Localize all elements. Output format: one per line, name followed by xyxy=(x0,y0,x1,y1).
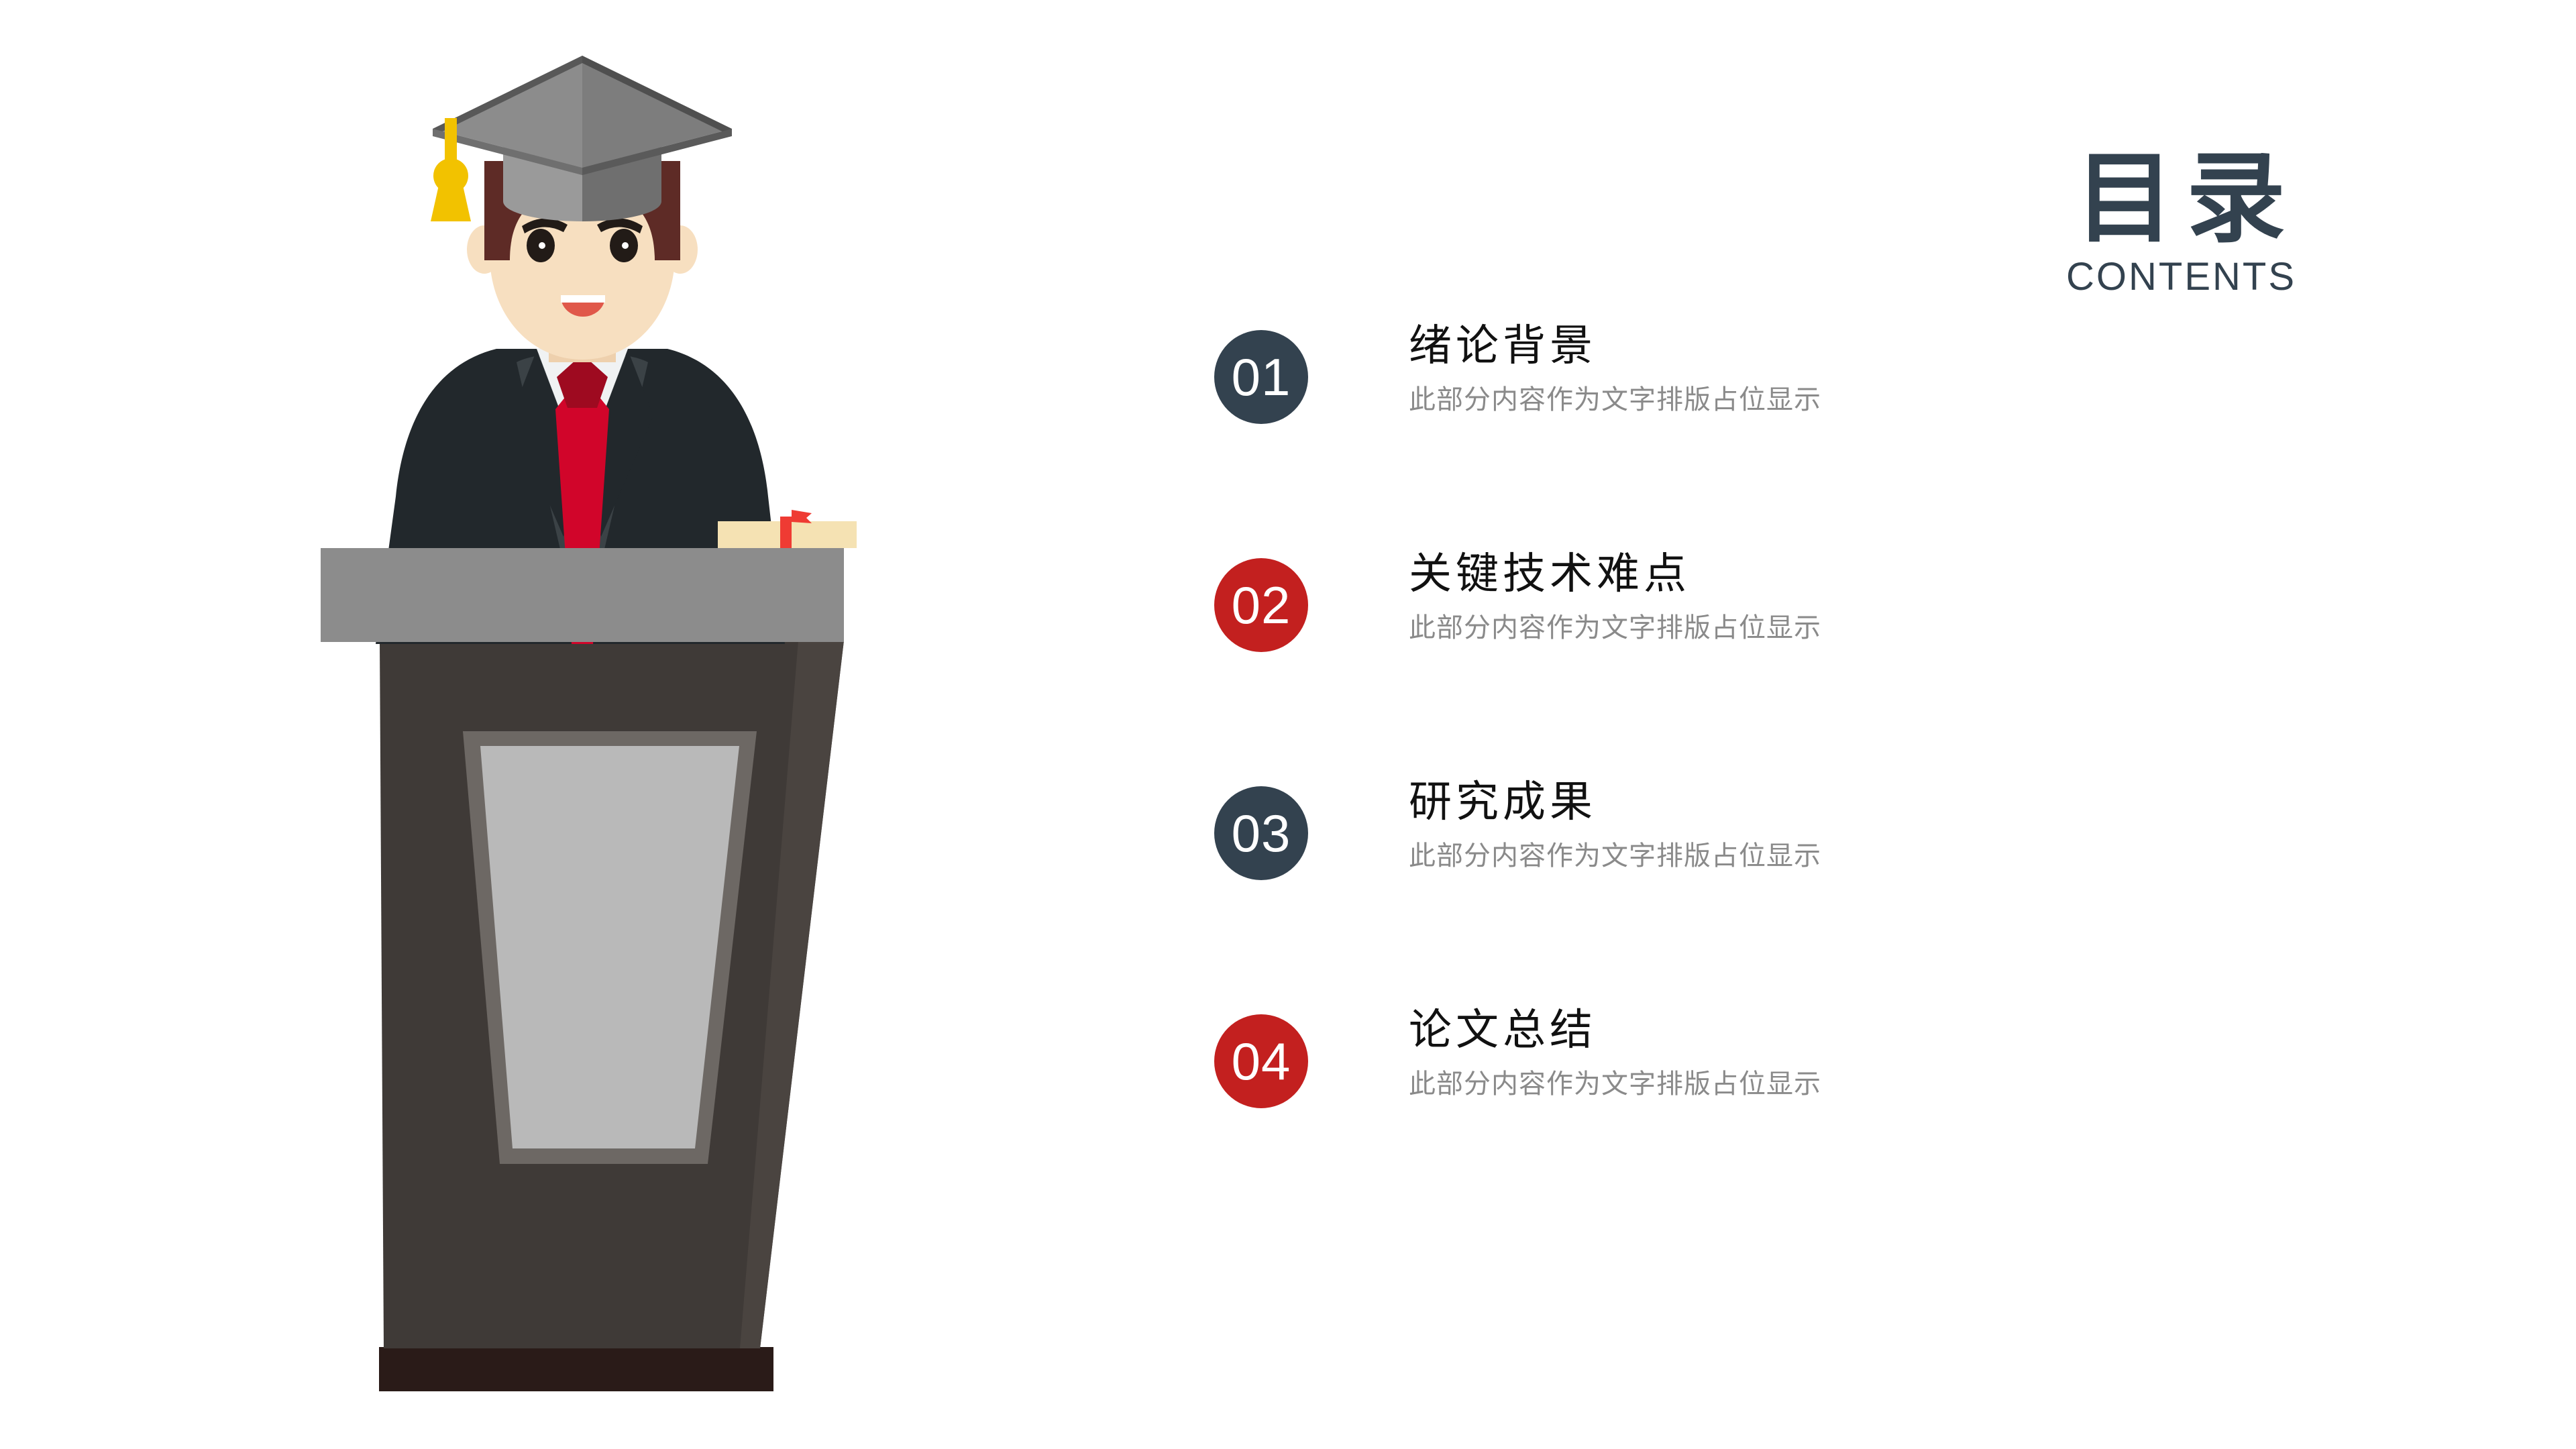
eye-left-highlight xyxy=(539,242,545,249)
agenda-item-description: 此部分内容作为文字排版占位显示 xyxy=(1409,614,2012,641)
podium-base xyxy=(379,1347,773,1391)
agenda-item-04[interactable]: 04 论文总结 此部分内容作为文字排版占位显示 xyxy=(1214,1014,2086,1128)
agenda-item-title: 关键技术难点 xyxy=(1409,553,2012,596)
agenda-text-block: 关键技术难点 此部分内容作为文字排版占位显示 xyxy=(1409,553,2012,641)
agenda-item-03[interactable]: 03 研究成果 此部分内容作为文字排版占位显示 xyxy=(1214,786,2086,900)
tassel-skirt xyxy=(431,182,471,221)
agenda-item-02[interactable]: 02 关键技术难点 此部分内容作为文字排版占位显示 xyxy=(1214,558,2086,672)
agenda-item-title: 研究成果 xyxy=(1409,781,2012,824)
agenda-text-block: 研究成果 此部分内容作为文字排版占位显示 xyxy=(1409,781,2012,869)
podium-panel xyxy=(480,746,739,1148)
agenda-number-badge: 03 xyxy=(1214,786,1308,880)
graduate-speaker-illustration xyxy=(0,0,973,1449)
graduation-cap xyxy=(431,56,732,221)
slide-canvas: 目录 CONTENTS 01 绪论背景 此部分内容作为文字排版占位显示 02 关… xyxy=(0,0,2576,1449)
agenda-item-description: 此部分内容作为文字排版占位显示 xyxy=(1409,1071,2012,1097)
page-subtitle: CONTENTS xyxy=(1979,258,2381,297)
agenda-text-block: 论文总结 此部分内容作为文字排版占位显示 xyxy=(1409,1009,2012,1097)
scroll-ribbon-flag xyxy=(792,510,812,523)
teeth xyxy=(561,295,605,303)
scroll-ribbon xyxy=(780,517,792,550)
agenda-item-01[interactable]: 01 绪论背景 此部分内容作为文字排版占位显示 xyxy=(1214,330,2086,444)
podium-top xyxy=(321,548,844,642)
agenda-number-badge: 04 xyxy=(1214,1014,1308,1108)
agenda-list: 01 绪论背景 此部分内容作为文字排版占位显示 02 关键技术难点 此部分内容作… xyxy=(1214,330,2086,1128)
agenda-item-description: 此部分内容作为文字排版占位显示 xyxy=(1409,843,2012,869)
eye-right-highlight xyxy=(622,242,629,249)
agenda-item-title: 论文总结 xyxy=(1409,1009,2012,1052)
agenda-text-block: 绪论背景 此部分内容作为文字排版占位显示 xyxy=(1409,325,2012,413)
contents-heading: 目录 CONTENTS xyxy=(1979,149,2381,297)
page-title: 目录 xyxy=(1979,149,2381,248)
agenda-number-badge: 01 xyxy=(1214,330,1308,424)
agenda-number-badge: 02 xyxy=(1214,558,1308,652)
agenda-item-description: 此部分内容作为文字排版占位显示 xyxy=(1409,386,2012,413)
agenda-item-title: 绪论背景 xyxy=(1409,325,2012,368)
